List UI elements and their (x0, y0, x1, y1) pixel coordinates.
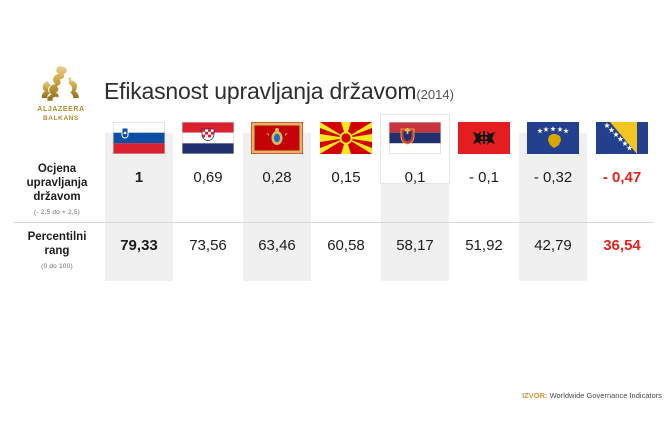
source-text: Worldwide Governance Indicators (550, 391, 662, 400)
cell-rank-kosovo: 42,79 (519, 237, 587, 254)
cell-rank-albania: 51,92 (450, 237, 518, 254)
flag-bosnia-icon (596, 122, 648, 154)
row-label-score-range: (- 2,5 do + 2,5) (14, 206, 100, 220)
cell-rank-croatia: 73,56 (174, 237, 242, 254)
column-stripe (243, 133, 311, 281)
cell-score-slovenia: 1 (105, 169, 173, 186)
page-title-year: (2014) (416, 87, 454, 102)
flag-kosovo-icon (527, 122, 579, 154)
row-label-score-line2: upravljanja (14, 176, 100, 190)
row-label-rank: Percentilni rang (0 do 100) (14, 230, 100, 274)
cell-score-bosnia: - 0,47 (588, 169, 656, 186)
cell-score-montenegro: 0,28 (243, 169, 311, 186)
source-label: IZVOR: (522, 391, 547, 400)
aljazeera-logo-icon (22, 64, 100, 104)
flag-cell-slovenia (105, 121, 173, 155)
flag-cell-kosovo (519, 121, 587, 155)
row-label-score: Ocjena upravljanja državom (- 2,5 do + 2… (14, 162, 100, 220)
cell-score-kosovo: - 0,32 (519, 169, 587, 186)
cell-score-albania: - 0,1 (450, 169, 518, 186)
column-stripe (105, 133, 173, 281)
row-label-rank-line1: Percentilni (14, 230, 100, 244)
row-label-rank-line2: rang (14, 244, 100, 258)
flag-macedonia-icon (320, 122, 372, 154)
flag-cell-montenegro (243, 121, 311, 155)
flag-albania-icon (458, 122, 510, 154)
page-title-text: Efikasnost upravljanja državom (104, 78, 416, 104)
cell-rank-macedonia: 60,58 (312, 237, 380, 254)
cell-rank-serbia: 58,17 (381, 237, 449, 254)
cell-score-macedonia: 0,15 (312, 169, 380, 186)
cell-score-croatia: 0,69 (174, 169, 242, 186)
flag-cell-bosnia (588, 121, 656, 155)
source-note: IZVOR: Worldwide Governance Indicators (522, 391, 662, 400)
flag-cell-albania (450, 121, 518, 155)
column-stripe (519, 133, 587, 281)
flag-serbia-icon (389, 122, 441, 154)
row-divider (14, 222, 654, 223)
cell-rank-slovenia: 79,33 (105, 237, 173, 254)
flag-slovenia-icon (113, 122, 165, 154)
row-label-rank-range: (0 do 100) (14, 260, 100, 274)
flag-cell-serbia (381, 121, 449, 155)
cell-rank-bosnia: 36,54 (588, 237, 656, 254)
data-table: Ocjena upravljanja državom (- 2,5 do + 2… (0, 115, 670, 285)
flag-cell-macedonia (312, 121, 380, 155)
flag-croatia-icon (182, 122, 234, 154)
flag-cell-croatia (174, 121, 242, 155)
logo-brand-name: ALJAZEERA (22, 105, 100, 114)
cell-rank-montenegro: 63,46 (243, 237, 311, 254)
cell-score-serbia: 0,1 (381, 169, 449, 186)
page-title: Efikasnost upravljanja državom(2014) (104, 78, 454, 105)
row-label-score-line1: Ocjena (14, 162, 100, 176)
row-label-score-line3: državom (14, 190, 100, 204)
infographic-root: ALJAZEERA BALKANS Efikasnost upravljanja… (0, 0, 670, 433)
flag-montenegro-icon (251, 122, 303, 154)
